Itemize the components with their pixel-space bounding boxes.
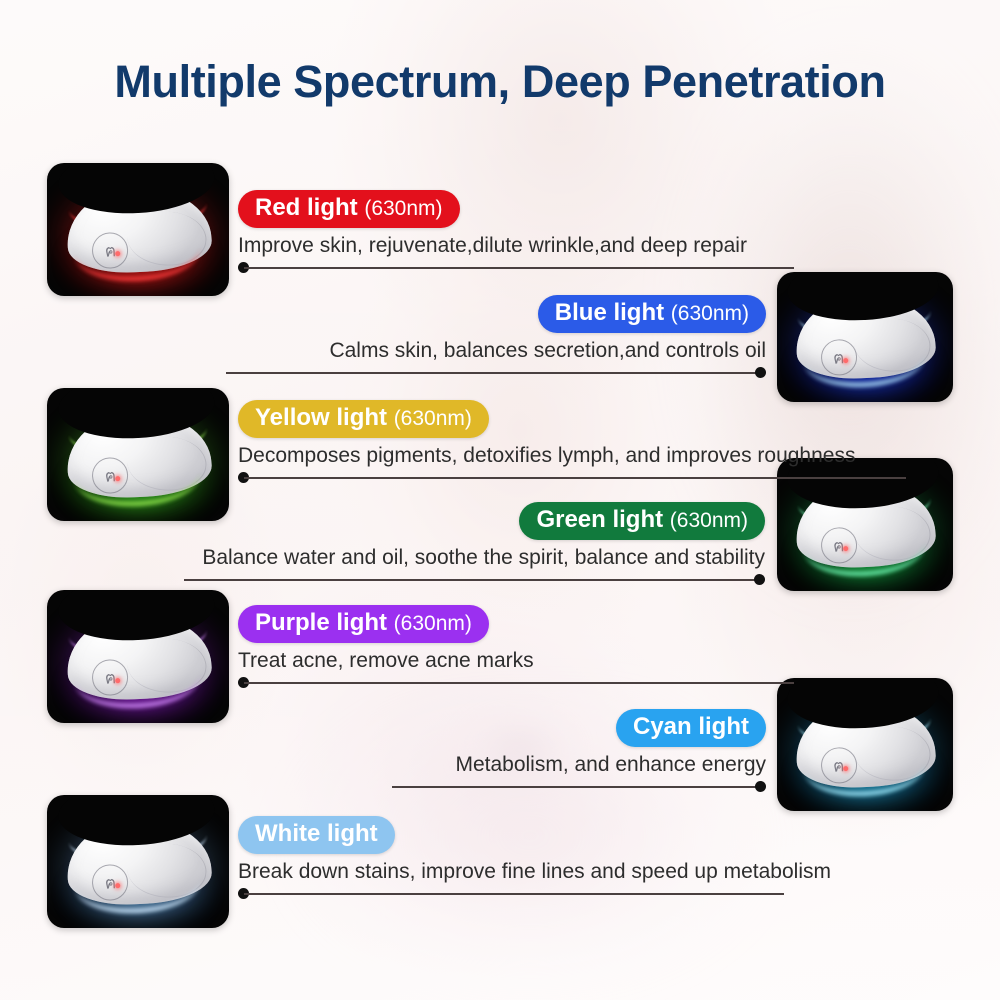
product-photo-cyan: ฅ xyxy=(777,678,953,811)
badge-label: Yellow light xyxy=(255,404,387,431)
badge-blue-light[interactable]: Blue light (630nm) xyxy=(538,295,766,333)
leader-rule xyxy=(184,579,759,581)
spectrum-row-purple: Purple light (630nm) Treat acne, remove … xyxy=(238,605,794,690)
device-body: ฅ xyxy=(65,183,213,276)
badge-wavelength: (630nm) xyxy=(670,509,748,532)
badge-label: White light xyxy=(255,820,378,847)
leader-dot xyxy=(755,367,766,378)
row-description: Metabolism, and enhance energy xyxy=(400,752,766,777)
product-photo-blue: ฅ xyxy=(777,272,953,402)
device-body: ฅ xyxy=(794,292,937,382)
leader-dot xyxy=(755,781,766,792)
leader-line-white xyxy=(238,887,884,901)
leader-rule xyxy=(244,477,906,479)
leader-dot xyxy=(754,574,765,585)
badge-yellow-light[interactable]: Yellow light (630nm) xyxy=(238,400,489,438)
row-description: Calms skin, balances secretion,and contr… xyxy=(226,338,766,363)
row-description: Break down stains, improve fine lines an… xyxy=(238,859,884,884)
leader-rule xyxy=(226,372,760,374)
badge-label: Red light xyxy=(255,194,358,221)
badge-green-light[interactable]: Green light (630nm) xyxy=(519,502,765,540)
device-body: ฅ xyxy=(65,408,213,501)
product-photo-red: ฅ xyxy=(47,163,229,296)
leader-line-blue xyxy=(226,366,766,380)
spectrum-row-yellow: Yellow light (630nm) Decomposes pigments… xyxy=(238,400,906,485)
device-body: ฅ xyxy=(65,610,213,703)
badge-red-light[interactable]: Red light (630nm) xyxy=(238,190,460,228)
badge-label: Blue light xyxy=(555,299,664,326)
leader-line-purple xyxy=(238,676,794,690)
badge-purple-light[interactable]: Purple light (630nm) xyxy=(238,605,489,643)
badge-label: Purple light xyxy=(255,609,387,636)
row-description: Improve skin, rejuvenate,dilute wrinkle,… xyxy=(238,233,794,258)
row-description: Treat acne, remove acne marks xyxy=(238,648,794,673)
leader-rule xyxy=(244,893,784,895)
product-photo-purple: ฅ xyxy=(47,590,229,723)
row-description: Balance water and oil, soothe the spirit… xyxy=(160,545,765,570)
leader-line-cyan xyxy=(400,780,766,794)
spectrum-row-white: White light Break down stains, improve f… xyxy=(238,816,884,901)
leader-rule xyxy=(244,682,794,684)
leader-line-green xyxy=(160,573,765,587)
badge-wavelength: (630nm) xyxy=(671,302,749,325)
leader-line-yellow xyxy=(238,471,906,485)
spectrum-row-green: Green light (630nm) Balance water and oi… xyxy=(160,502,765,587)
device-body: ฅ xyxy=(65,815,213,908)
badge-white-light[interactable]: White light xyxy=(238,816,395,854)
product-photo-white: ฅ xyxy=(47,795,229,928)
badge-wavelength: (630nm) xyxy=(394,407,472,430)
badge-wavelength: (630nm) xyxy=(364,197,442,220)
leader-rule xyxy=(392,786,760,788)
leader-rule xyxy=(244,267,794,269)
row-description: Decomposes pigments, detoxifies lymph, a… xyxy=(238,443,906,468)
spectrum-row-cyan: Cyan light Metabolism, and enhance energ… xyxy=(400,709,766,794)
badge-cyan-light[interactable]: Cyan light xyxy=(616,709,766,747)
device-body: ฅ xyxy=(794,478,937,570)
spectrum-row-blue: Blue light (630nm) Calms skin, balances … xyxy=(226,295,766,380)
badge-label: Cyan light xyxy=(633,713,749,740)
page-title: Multiple Spectrum, Deep Penetration xyxy=(0,56,1000,108)
device-body: ฅ xyxy=(794,698,937,790)
spectrum-row-red: Red light (630nm) Improve skin, rejuvena… xyxy=(238,190,794,275)
badge-label: Green light xyxy=(536,506,663,533)
badge-wavelength: (630nm) xyxy=(394,612,472,635)
leader-line-red xyxy=(238,261,794,275)
